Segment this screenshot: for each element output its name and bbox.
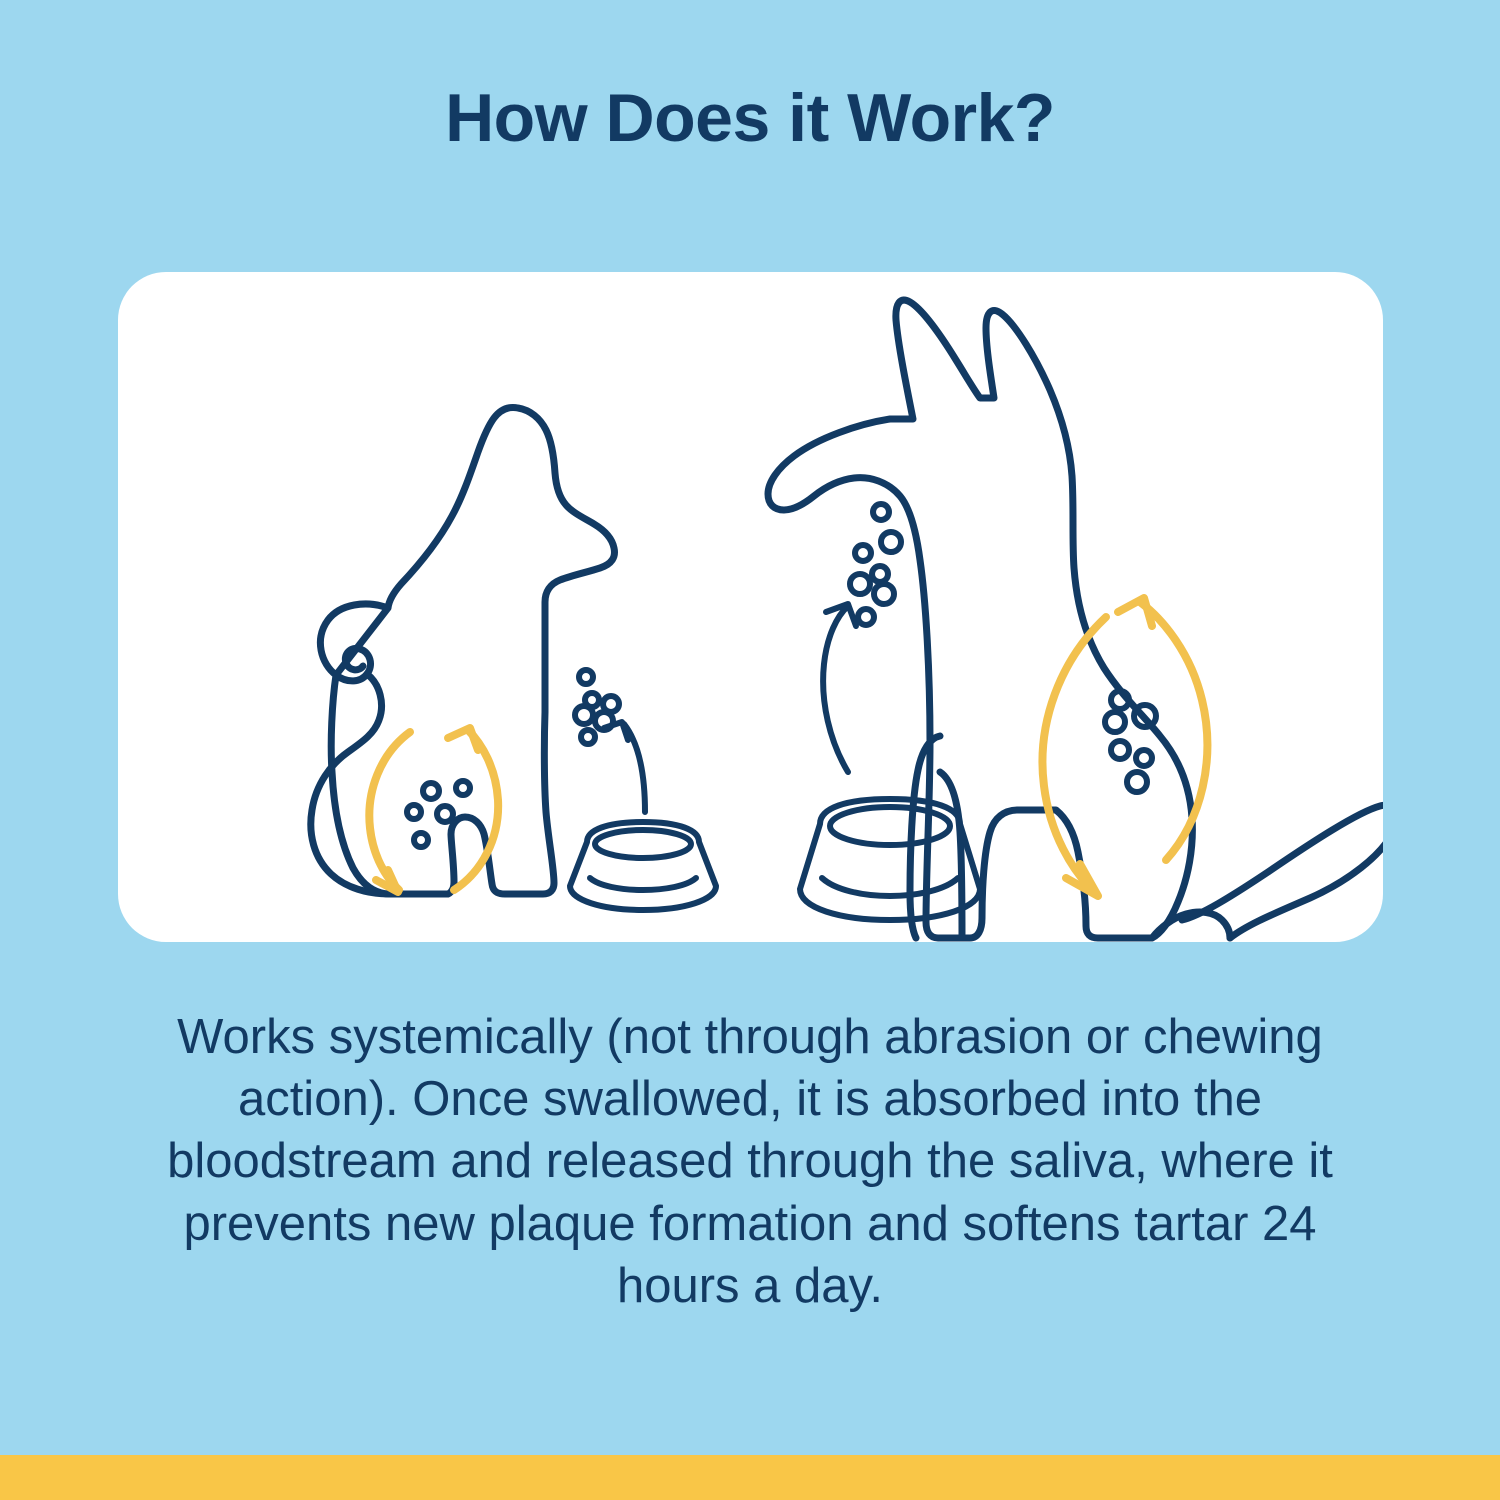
dog-silhouette [768,300,1192,938]
dog-ingestion-arrow [823,606,848,772]
cat-food-bowl [570,822,716,910]
dog-figure-group [768,300,1383,938]
infographic-panel: How Does it Work? [0,0,1500,1500]
body-paragraph: Works systemically (not through abrasion… [150,1006,1350,1317]
dog-tail [1182,805,1383,938]
dog-mouth-particles [850,504,901,625]
how-it-works-illustration [118,272,1383,942]
cat-body-particles [407,781,470,847]
bottom-accent-band [0,1455,1500,1500]
cat-circulation-arrow-down [369,732,410,890]
cat-circulation-arrowhead-up [448,728,478,750]
cat-mouth-particles [575,670,619,744]
page-title: How Does it Work? [0,84,1500,152]
illustration-card [118,272,1383,942]
dog-food-bowl [800,799,980,920]
cat-silhouette [320,407,614,894]
dog-circulation-arrowhead-up [1118,598,1152,626]
cat-figure-group [311,407,716,910]
dog-circulation-arrow-up [1140,602,1207,860]
